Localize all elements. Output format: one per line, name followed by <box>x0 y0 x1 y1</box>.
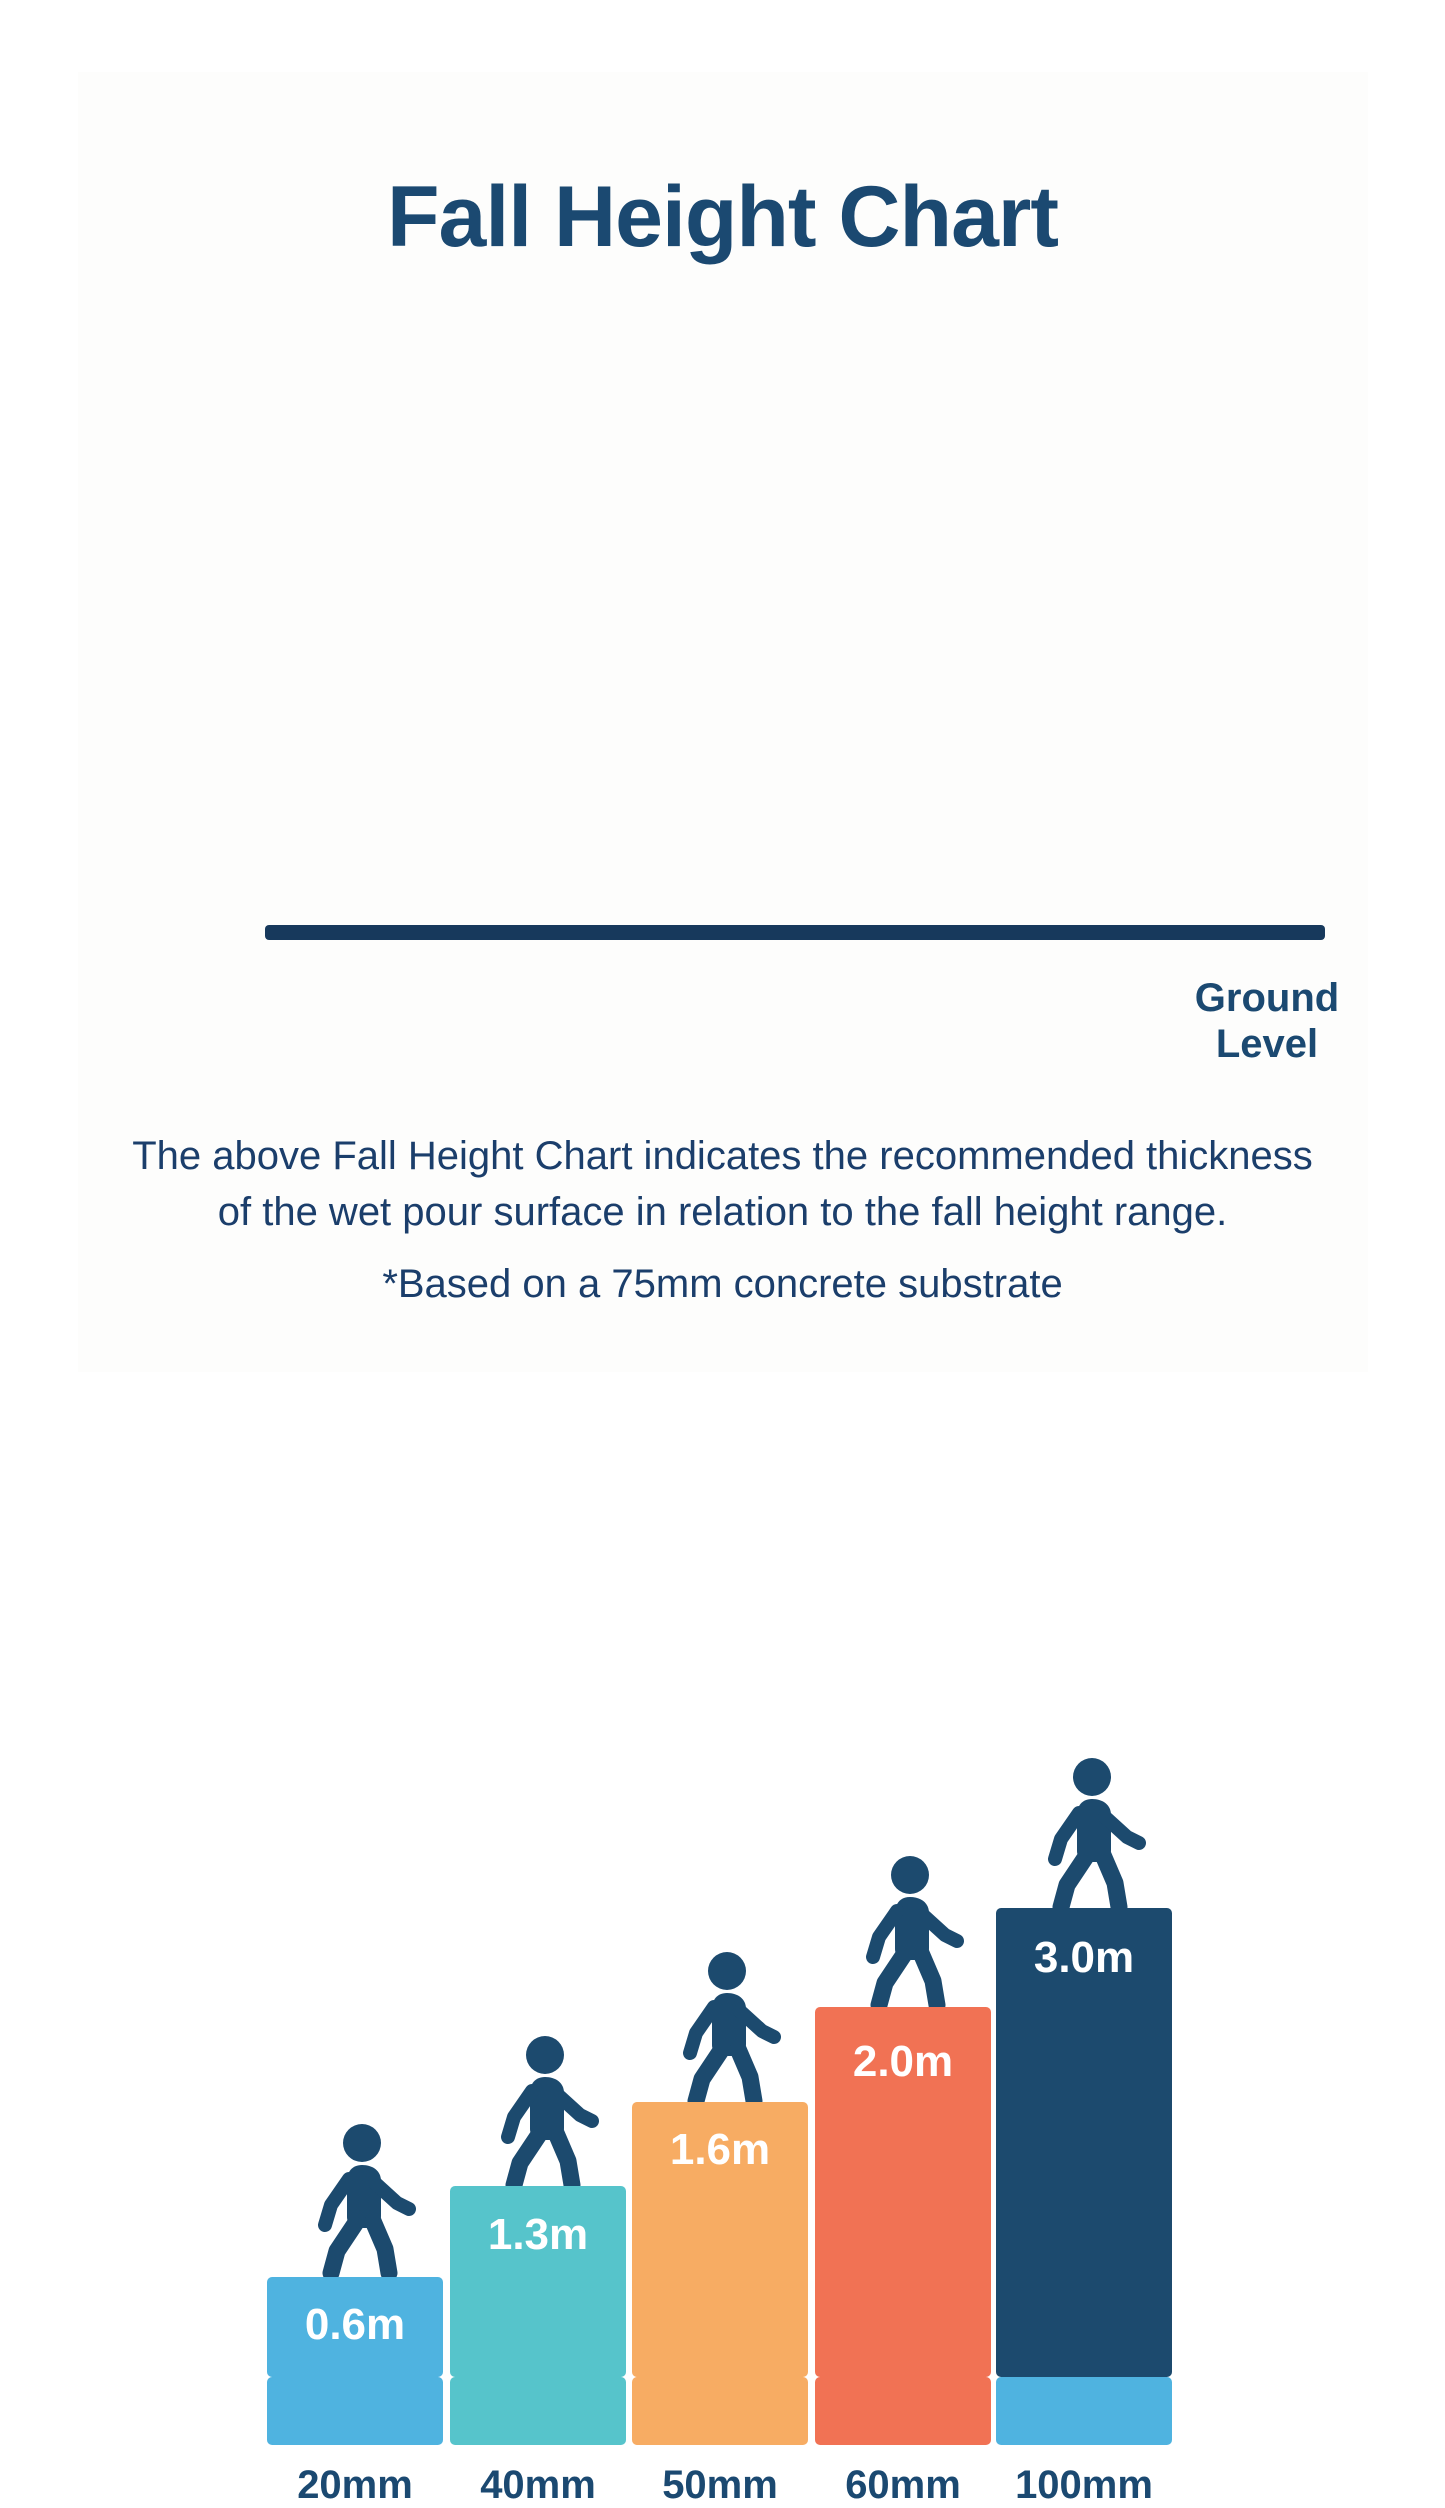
bar-value-label: 1.6m <box>632 2125 808 2175</box>
bar-value-label: 2.0m <box>815 2037 991 2087</box>
ground-level-label: Ground Level <box>1192 975 1342 1067</box>
ground-level-label-line2: Level <box>1192 1021 1342 1067</box>
bar-category-label: 40mm <box>450 2463 626 2508</box>
bar-below-ground <box>632 2377 808 2445</box>
bar-category-label: 100mm <box>996 2463 1172 2508</box>
ground-level-line <box>265 925 1325 940</box>
walking-person-icon <box>305 2121 425 2281</box>
bar-below-ground <box>815 2377 991 2445</box>
footer-text: The above Fall Height Chart indicates th… <box>0 1128 1445 1312</box>
bar-below-ground <box>996 2377 1172 2445</box>
bar-category-label: 50mm <box>632 2463 808 2508</box>
walking-person-icon <box>670 1949 790 2109</box>
bar-value-label: 3.0m <box>996 1933 1172 1983</box>
bar-below-ground <box>450 2377 626 2445</box>
bar-value-label: 0.6m <box>267 2300 443 2350</box>
infographic-canvas: Fall Height Chart 0.6m 20mm <box>0 0 1445 1445</box>
walking-person-icon <box>853 1853 973 2013</box>
bar-value-label: 1.3m <box>450 2210 626 2260</box>
footer-line-1: The above Fall Height Chart indicates th… <box>0 1128 1445 1184</box>
walking-person-icon <box>488 2033 608 2193</box>
bar-category-label: 60mm <box>815 2463 991 2508</box>
bar-category-label: 20mm <box>267 2463 443 2508</box>
bar-below-ground <box>267 2377 443 2445</box>
footer-line-2: of the wet pour surface in relation to t… <box>0 1184 1445 1240</box>
walking-person-icon <box>1035 1755 1155 1915</box>
footer-note: *Based on a 75mm concrete substrate <box>0 1256 1445 1312</box>
ground-level-label-line1: Ground <box>1192 975 1342 1021</box>
